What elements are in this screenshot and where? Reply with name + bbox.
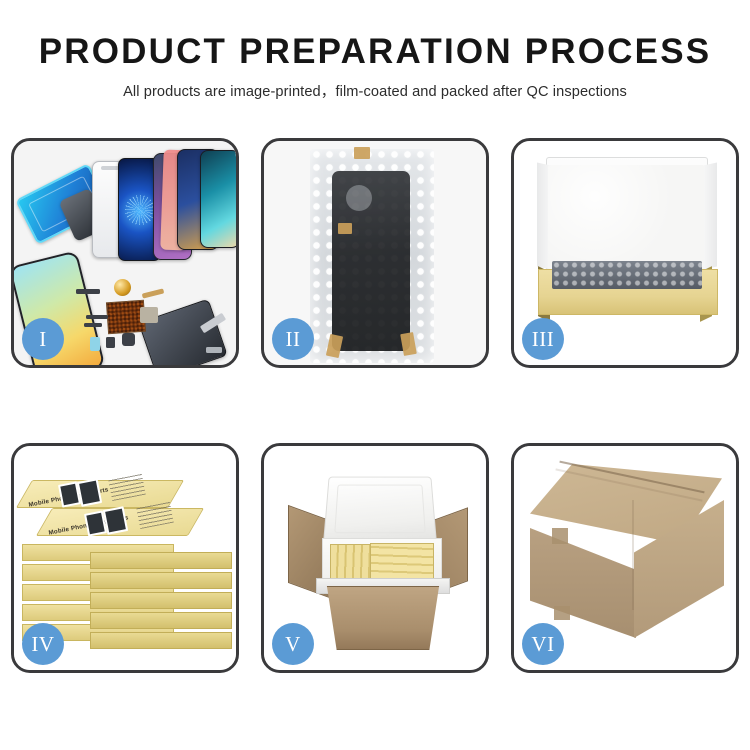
carton-tape-patch-upper xyxy=(552,528,568,544)
process-step-grid: I II III xyxy=(0,138,750,673)
process-step-panel-6[interactable]: VI xyxy=(511,443,739,673)
seal-tape-middle xyxy=(338,223,352,234)
antenna-part xyxy=(84,323,102,327)
step-badge-2: II xyxy=(272,318,314,360)
process-step-panel-3[interactable]: III xyxy=(511,138,739,368)
step-badge-5: V xyxy=(272,623,314,665)
carton-tape-patch-lower xyxy=(554,606,570,620)
small-screen-part xyxy=(90,337,100,351)
wrapped-phone-screen xyxy=(332,171,410,351)
step-badge-6: VI xyxy=(522,623,564,665)
vibration-motor-part xyxy=(122,333,135,346)
step-badge-4: IV xyxy=(22,623,64,665)
process-step-panel-5[interactable]: V xyxy=(261,443,489,673)
bubble-wrap-bag xyxy=(310,149,434,363)
camera-module-part xyxy=(106,337,115,348)
box-window-top-b xyxy=(77,478,102,507)
carton-body xyxy=(322,586,444,650)
foam-lid-open xyxy=(323,477,437,543)
stacked-box-right-edge-1 xyxy=(90,552,232,569)
page-subtitle: All products are image-printed，film-coat… xyxy=(0,80,750,101)
stacked-box-right-edge-4 xyxy=(90,612,232,629)
carton-vertical-edge xyxy=(632,500,634,610)
process-step-panel-1[interactable]: I xyxy=(11,138,239,368)
carton-front-face xyxy=(530,528,636,638)
foam-sheet xyxy=(548,165,704,269)
process-step-panel-2[interactable]: II xyxy=(261,138,489,368)
page-title: PRODUCT PREPARATION PROCESS xyxy=(0,34,750,71)
seal-tape-bottom-right xyxy=(400,332,417,356)
step-badge-1: I xyxy=(22,318,64,360)
stacked-box-right-edge-2 xyxy=(90,572,232,589)
bubble-wrapped-contents xyxy=(552,261,702,289)
tweezers-tool xyxy=(206,347,222,353)
earpiece-mesh-part xyxy=(76,289,100,294)
phone-screen-teal xyxy=(200,150,236,248)
page-header: PRODUCT PREPARATION PROCESS All products… xyxy=(0,0,750,101)
flex-ribbon-part xyxy=(140,307,158,323)
stacked-box-right-edge-5 xyxy=(90,632,232,649)
connector-part xyxy=(86,315,108,319)
seal-tape-top xyxy=(354,147,370,159)
stacked-box-right-edge-3 xyxy=(90,592,232,609)
flex-cable-part xyxy=(142,288,165,298)
step-badge-3: III xyxy=(522,318,564,360)
box-window-second-b xyxy=(103,506,128,535)
speaker-component xyxy=(114,279,131,296)
process-step-panel-4[interactable]: Mobile Phone Spare Parts Mobile Phone Sp… xyxy=(11,443,239,673)
seal-tape-bottom-left xyxy=(326,334,343,358)
